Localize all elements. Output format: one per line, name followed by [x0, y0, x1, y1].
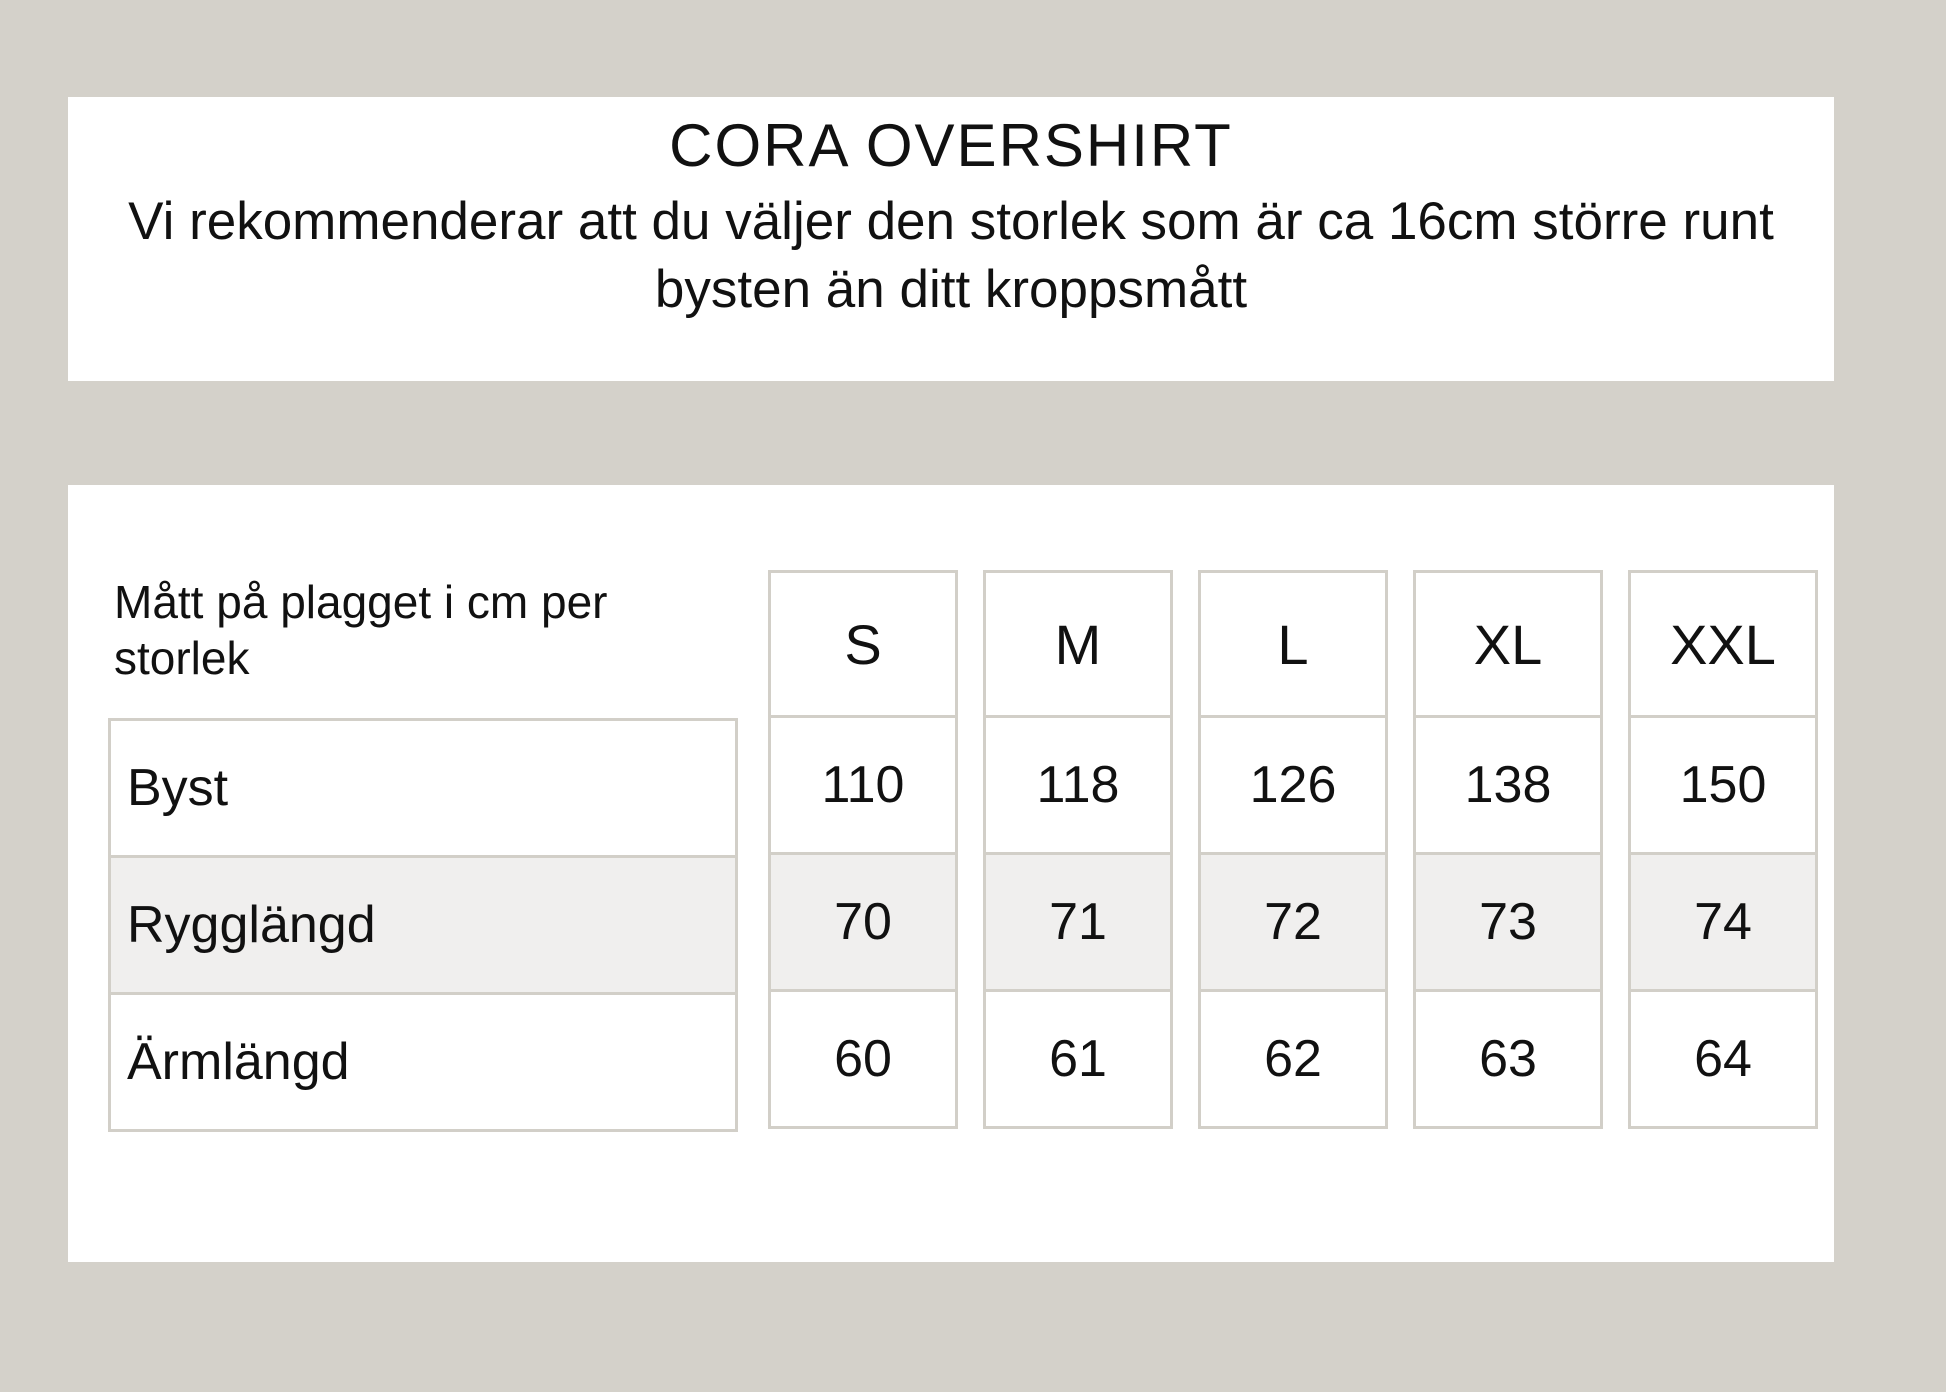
- cell-armlangd-m: 61: [983, 989, 1173, 1129]
- measurement-label-column: Mått på plagget i cm per storlek Byst Ry…: [108, 570, 738, 1132]
- cell-rygglangd-m: 71: [983, 852, 1173, 992]
- size-column-s: S 110 70 60: [768, 570, 958, 1129]
- size-recommendation-text: Vi rekommenderar att du väljer den storl…: [111, 188, 1791, 324]
- size-header-xxl: XXL: [1628, 570, 1818, 718]
- size-column-xl: XL 138 73 63: [1413, 570, 1603, 1129]
- cell-armlangd-s: 60: [768, 989, 958, 1129]
- header-panel: CORA OVERSHIRT Vi rekommenderar att du v…: [68, 97, 1834, 381]
- size-table-panel: Mått på plagget i cm per storlek Byst Ry…: [68, 485, 1834, 1262]
- cell-rygglangd-s: 70: [768, 852, 958, 992]
- cell-rygglangd-l: 72: [1198, 852, 1388, 992]
- cell-rygglangd-xl: 73: [1413, 852, 1603, 992]
- size-guide-page: CORA OVERSHIRT Vi rekommenderar att du v…: [0, 0, 1946, 1392]
- size-column-xxl: XXL 150 74 64: [1628, 570, 1818, 1129]
- size-header-m: M: [983, 570, 1173, 718]
- size-header-l: L: [1198, 570, 1388, 718]
- cell-byst-s: 110: [768, 715, 958, 855]
- table-corner-label: Mått på plagget i cm per storlek: [108, 570, 738, 718]
- cell-byst-l: 126: [1198, 715, 1388, 855]
- cell-byst-xl: 138: [1413, 715, 1603, 855]
- size-column-m: M 118 71 61: [983, 570, 1173, 1129]
- size-header-xl: XL: [1413, 570, 1603, 718]
- row-label-armlangd: Ärmlängd: [108, 992, 738, 1132]
- size-column-l: L 126 72 62: [1198, 570, 1388, 1129]
- cell-armlangd-l: 62: [1198, 989, 1388, 1129]
- row-label-rygglangd: Rygglängd: [108, 855, 738, 995]
- row-label-byst: Byst: [108, 718, 738, 858]
- size-table: Mått på plagget i cm per storlek Byst Ry…: [108, 570, 1788, 1132]
- cell-byst-m: 118: [983, 715, 1173, 855]
- cell-byst-xxl: 150: [1628, 715, 1818, 855]
- cell-armlangd-xxl: 64: [1628, 989, 1818, 1129]
- size-header-s: S: [768, 570, 958, 718]
- product-title: CORA OVERSHIRT: [669, 111, 1233, 182]
- cell-rygglangd-xxl: 74: [1628, 852, 1818, 992]
- cell-armlangd-xl: 63: [1413, 989, 1603, 1129]
